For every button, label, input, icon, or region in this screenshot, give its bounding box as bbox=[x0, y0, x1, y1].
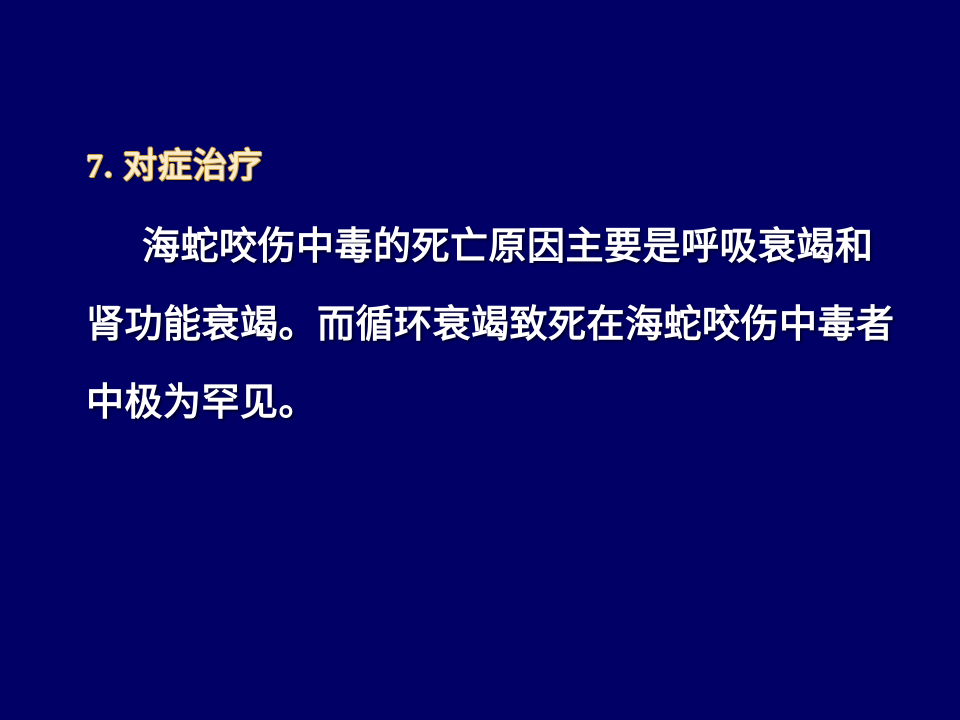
slide-title: 7. 对症治疗 bbox=[86, 145, 263, 189]
body-line: 中极为罕见。 bbox=[86, 364, 908, 442]
body-line: 肾功能衰竭。而循环衰竭致死在海蛇咬伤中毒者 bbox=[86, 286, 908, 364]
presentation-slide: 7. 对症治疗 海蛇咬伤中毒的死亡原因主要是呼吸衰竭和 肾功能衰竭。而循环衰竭致… bbox=[0, 0, 960, 720]
slide-body-text: 海蛇咬伤中毒的死亡原因主要是呼吸衰竭和 肾功能衰竭。而循环衰竭致死在海蛇咬伤中毒… bbox=[86, 208, 908, 442]
body-line: 海蛇咬伤中毒的死亡原因主要是呼吸衰竭和 bbox=[86, 208, 908, 286]
